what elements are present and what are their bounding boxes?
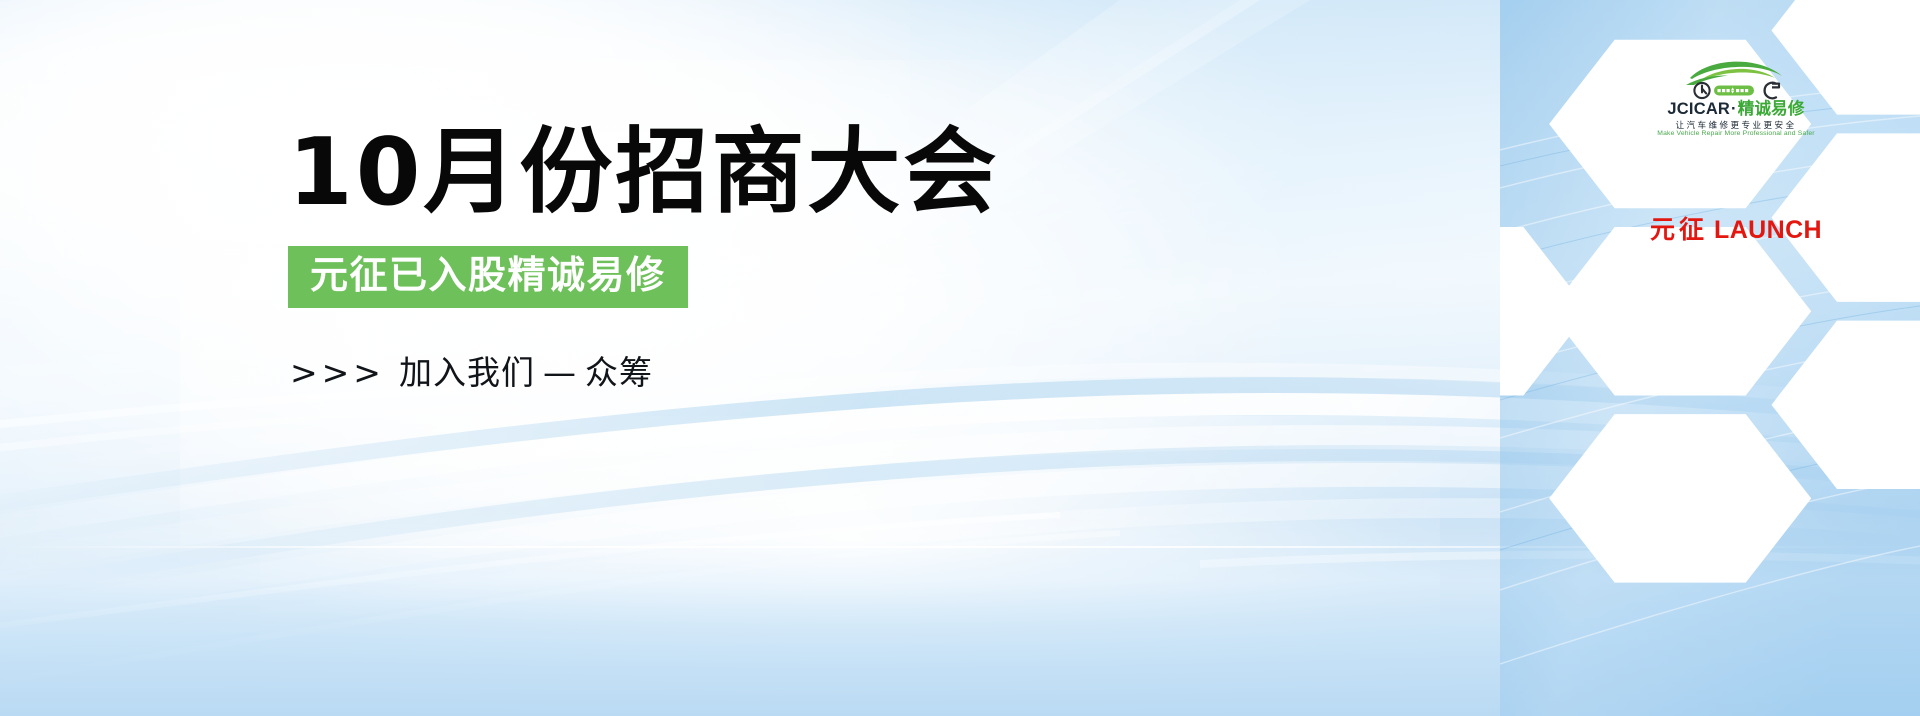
badge-row: 元征已入股精诚易修 [288,246,1288,308]
tagline-join-text: 加入我们 [399,353,535,392]
jcicar-slogan-en: Make Vehicle Repair More Professional an… [1650,131,1822,138]
launch-brand-cn: 元征 [1650,216,1708,244]
launch-logo: 元征LAUNCH [1641,210,1831,244]
announcement-badge: 元征已入股精诚易修 [288,246,688,308]
banner-headline: 10月份招商大会 [288,122,1288,222]
jcicar-brand-cn: 精诚易修 [1738,100,1805,118]
banner-tagline: >>>加入我们—众筹 [290,346,1288,394]
jcicar-brand-en: JCICAR [1667,100,1730,118]
tagline-dash: — [543,353,577,392]
background-glow-bottom [260,416,1440,716]
launch-brand-en: LAUNCH [1714,216,1822,244]
jcicar-separator: · [1731,100,1737,118]
promo-banner: JCICAR·精诚易修 让汽车维修更专业更安全 Make Vehicle Rep… [0,0,1920,716]
banner-copy-block: 10月份招商大会 元征已入股精诚易修 >>>加入我们—众筹 [288,122,1288,394]
horizon-line [0,546,1920,548]
chevron-right-icon: >>> [290,353,385,392]
jcicar-slogan-cn: 让汽车维修更专业更安全 [1650,121,1822,130]
bottom-reflection-band [0,510,1920,716]
jcicar-brandline: JCICAR·精诚易修 [1650,101,1822,118]
jcicar-logo: JCICAR·精诚易修 让汽车维修更专业更安全 Make Vehicle Rep… [1650,58,1822,160]
tagline-crowdfunding-text: 众筹 [585,353,653,392]
car-silhouette-icon [1680,58,1792,100]
